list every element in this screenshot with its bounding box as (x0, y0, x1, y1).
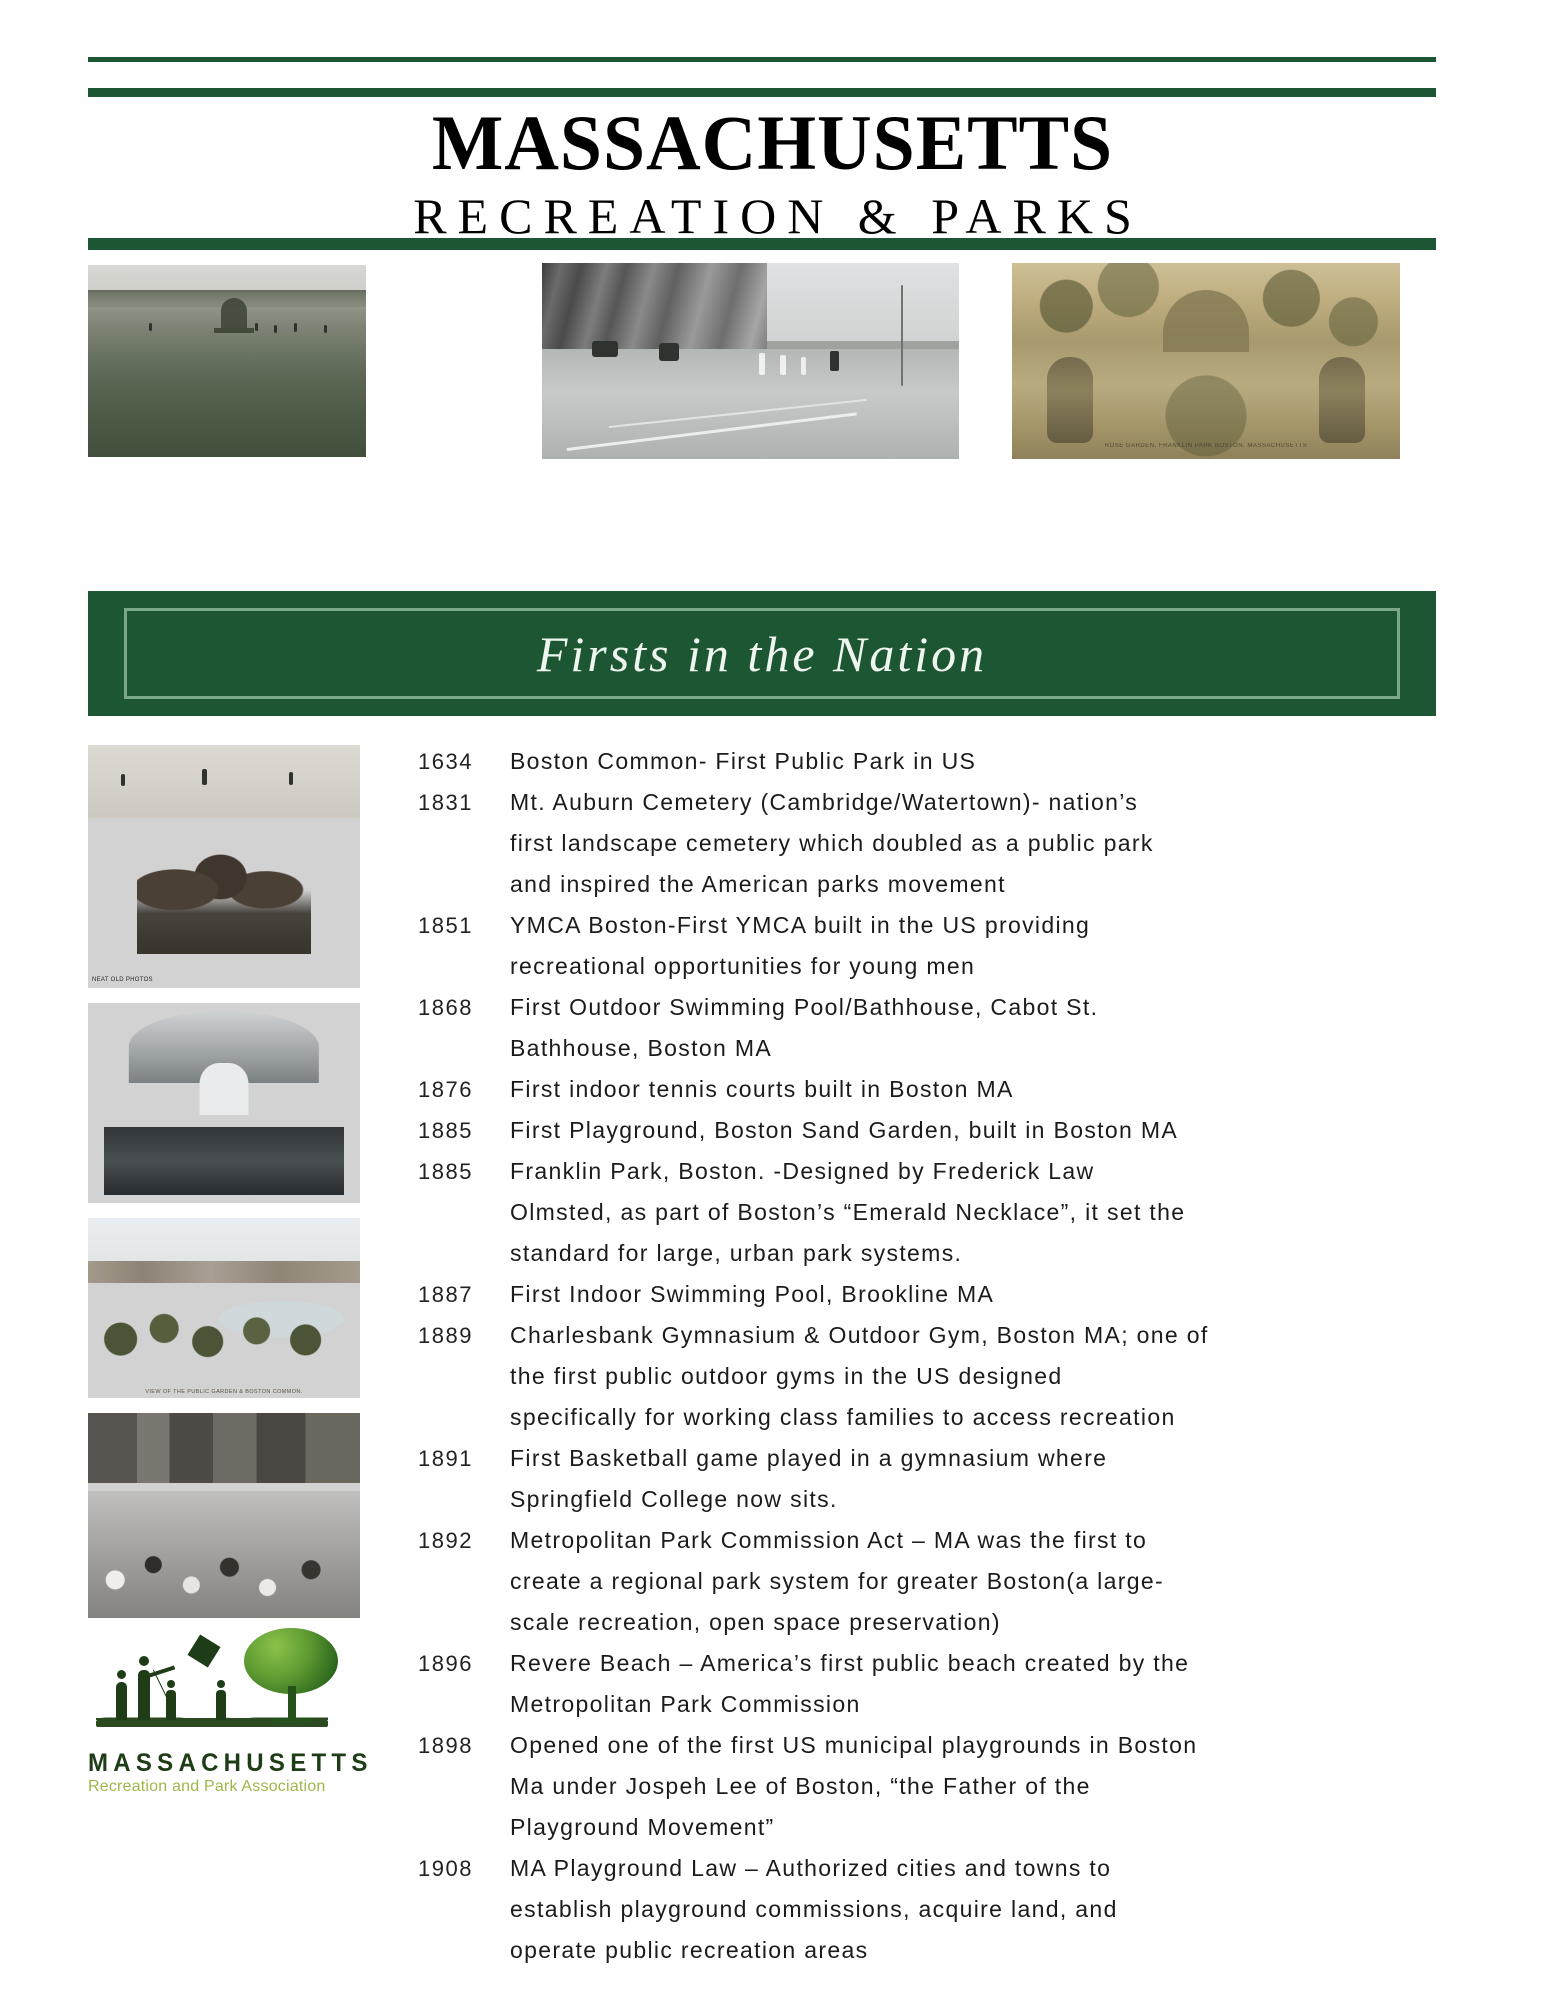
timeline-row: 1892 Metropolitan Park Commission Act – … (418, 1520, 1448, 1643)
organization-title: MASSACHUSETTS (23, 100, 1522, 186)
timeline-row: 1634 Boston Common- First Public Park in… (418, 741, 1448, 782)
timeline-row: 1889 Charlesbank Gymnasium & Outdoor Gym… (418, 1315, 1448, 1438)
photo-public-park-panorama (88, 265, 366, 457)
timeline-year: 1868 (418, 987, 510, 1028)
thumbnail-public-garden-litho: VIEW OF THE PUBLIC GARDEN & BOSTON COMMO… (88, 1218, 360, 1398)
timeline-year: 1908 (418, 1848, 510, 1889)
photo-rose-garden-franklin-park: ROSE GARDEN, FRANKLIN PARK BOSTON, MASSA… (1012, 263, 1400, 459)
timeline-row: 1887 First Indoor Swimming Pool, Brookli… (418, 1274, 1448, 1315)
timeline-description: Franklin Park, Boston. -Designed by Fred… (510, 1151, 1429, 1274)
timeline-year: 1851 (418, 905, 510, 946)
timeline-description: Boston Common- First Public Park in US (510, 741, 1429, 782)
timeline-description: First Basketball game played in a gymnas… (510, 1438, 1429, 1520)
header-photo-strip: ROSE GARDEN, FRANKLIN PARK BOSTON, MASSA… (0, 263, 1545, 459)
thumbnail-rail: NEAT OLD PHOTOS VIEW OF THE PUBLIC GARDE… (88, 745, 360, 1797)
timeline-row: 1868 First Outdoor Swimming Pool/Bathhou… (418, 987, 1448, 1069)
timeline-description: First Outdoor Swimming Pool/Bathhouse, C… (510, 987, 1429, 1069)
tree-icon (244, 1628, 338, 1720)
timeline-year: 1896 (418, 1643, 510, 1684)
mrpa-logo: MASSACHUSETTS Recreation and Park Associ… (88, 1633, 338, 1797)
header-rule-top (88, 57, 1436, 62)
timeline-row: 1891 First Basketball game played in a g… (418, 1438, 1448, 1520)
organization-subtitle: RECREATION & PARKS (0, 186, 1545, 246)
park-monument-shape (221, 298, 247, 332)
photo-caption: ROSE GARDEN, FRANKLIN PARK BOSTON, MASSA… (1012, 443, 1400, 449)
timeline-description: First Indoor Swimming Pool, Brookline MA (510, 1274, 1429, 1315)
person-pointing-icon (138, 1670, 150, 1720)
timeline-year: 1889 (418, 1315, 510, 1356)
timeline-description: MA Playground Law – Authorized cities an… (510, 1848, 1429, 1971)
thumbnail-indoor-pool (88, 1003, 360, 1203)
timeline-row: 1876 First indoor tennis courts built in… (418, 1069, 1448, 1110)
timeline-row: 1831 Mt. Auburn Cemetery (Cambridge/Wate… (418, 782, 1448, 905)
document-page: MASSACHUSETTS RECREATION & PARKS (0, 0, 1545, 2000)
thumbnail-beach-bathers: NEAT OLD PHOTOS (88, 745, 360, 988)
masthead: MASSACHUSETTS RECREATION & PARKS (0, 100, 1545, 246)
timeline-description: Mt. Auburn Cemetery (Cambridge/Watertown… (510, 782, 1429, 905)
timeline-year: 1891 (418, 1438, 510, 1479)
timeline-row: 1851 YMCA Boston-First YMCA built in the… (418, 905, 1448, 987)
running-child-icon (216, 1690, 226, 1720)
thumbnail-caption: VIEW OF THE PUBLIC GARDEN & BOSTON COMMO… (88, 1389, 360, 1395)
photo-revere-beach-boulevard (542, 263, 959, 459)
header-rule-second (88, 88, 1436, 97)
timeline-row: 1908 MA Playground Law – Authorized citi… (418, 1848, 1448, 1971)
banner-frame: Firsts in the Nation (124, 608, 1400, 699)
timeline-description: Revere Beach – America’s first public be… (510, 1643, 1429, 1725)
header-rule-bottom (88, 238, 1436, 250)
timeline-row: 1885 First Playground, Boston Sand Garde… (418, 1110, 1448, 1151)
timeline-row: 1898 Opened one of the first US municipa… (418, 1725, 1448, 1848)
timeline-description: First Playground, Boston Sand Garden, bu… (510, 1110, 1429, 1151)
logo-wordmark: MASSACHUSETTS (88, 1749, 328, 1777)
timeline-description: Metropolitan Park Commission Act – MA wa… (510, 1520, 1429, 1643)
logo-tagline: Recreation and Park Association (88, 1777, 338, 1797)
timeline-year: 1898 (418, 1725, 510, 1766)
timeline-description: YMCA Boston-First YMCA built in the US p… (510, 905, 1429, 987)
timeline-description: Charlesbank Gymnasium & Outdoor Gym, Bos… (510, 1315, 1429, 1438)
firsts-timeline-list: 1634 Boston Common- First Public Park in… (418, 741, 1448, 1971)
timeline-description: First indoor tennis courts built in Bost… (510, 1069, 1429, 1110)
timeline-year: 1885 (418, 1151, 510, 1192)
timeline-description: Opened one of the first US municipal pla… (510, 1725, 1429, 1848)
timeline-year: 1892 (418, 1520, 510, 1561)
timeline-year: 1885 (418, 1110, 510, 1151)
thumbnail-caption: NEAT OLD PHOTOS (92, 977, 153, 983)
thumbnail-playground-children (88, 1413, 360, 1618)
banner-heading: Firsts in the Nation (537, 625, 987, 683)
timeline-year: 1634 (418, 741, 510, 782)
timeline-year: 1831 (418, 782, 510, 823)
logo-artwork (88, 1633, 338, 1749)
timeline-year: 1876 (418, 1069, 510, 1110)
person-icon (116, 1682, 127, 1720)
section-banner: Firsts in the Nation (88, 591, 1436, 716)
timeline-row: 1896 Revere Beach – America’s first publ… (418, 1643, 1448, 1725)
timeline-year: 1887 (418, 1274, 510, 1315)
timeline-row: 1885 Franklin Park, Boston. -Designed by… (418, 1151, 1448, 1274)
